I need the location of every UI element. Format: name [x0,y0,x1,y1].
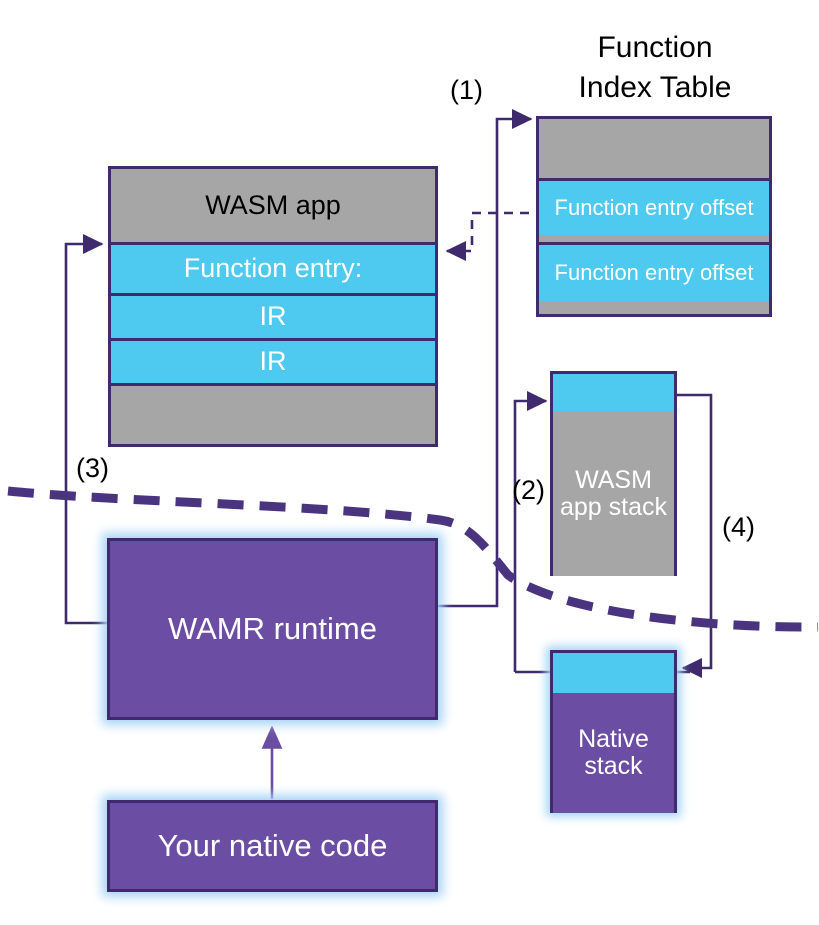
step-label-2: (2) [512,477,545,504]
step-label-3: (3) [76,455,109,482]
wasm-app-row-ir-2[interactable]: IR [111,338,435,383]
function-index-table-box[interactable]: Function entry offset Function entry off… [536,116,772,317]
wasm-app-row-function-entry[interactable]: Function entry: [111,242,435,293]
function-entry-offset-row-2[interactable]: Function entry offset [539,242,769,301]
diagram-canvas: Function Index Table (1) (2) (3) (4) WAS… [0,0,819,925]
wasm-app-header: WASM app [111,169,435,242]
wasm-app-row-ir-1[interactable]: IR [111,293,435,338]
wasm-app-footer [111,383,435,444]
native-stack-top-band[interactable] [553,653,674,693]
wasm-app-box[interactable]: WASM app Function entry: IR IR [108,166,438,447]
wasm-app-stack-top-band[interactable] [553,374,674,411]
step-label-4: (4) [722,514,755,541]
function-index-table-header [539,119,769,178]
your-native-code-box[interactable]: Your native code [107,800,438,892]
step-label-1: (1) [450,77,483,104]
native-stack-box[interactable]: Native stack [550,650,677,813]
function-entry-offset-row-1[interactable]: Function entry offset [539,178,769,235]
function-index-table-divider-2 [539,301,769,314]
wasm-app-stack-box[interactable]: WASM app stack [550,371,677,576]
function-index-table-title: Function Index Table [530,28,780,108]
function-index-table-divider-1 [539,235,769,242]
connector-step-3 [66,244,107,623]
native-stack-label: Native stack [553,693,674,813]
wasm-app-stack-label: WASM app stack [553,411,674,576]
wamr-runtime-box[interactable]: WAMR runtime [107,538,438,720]
